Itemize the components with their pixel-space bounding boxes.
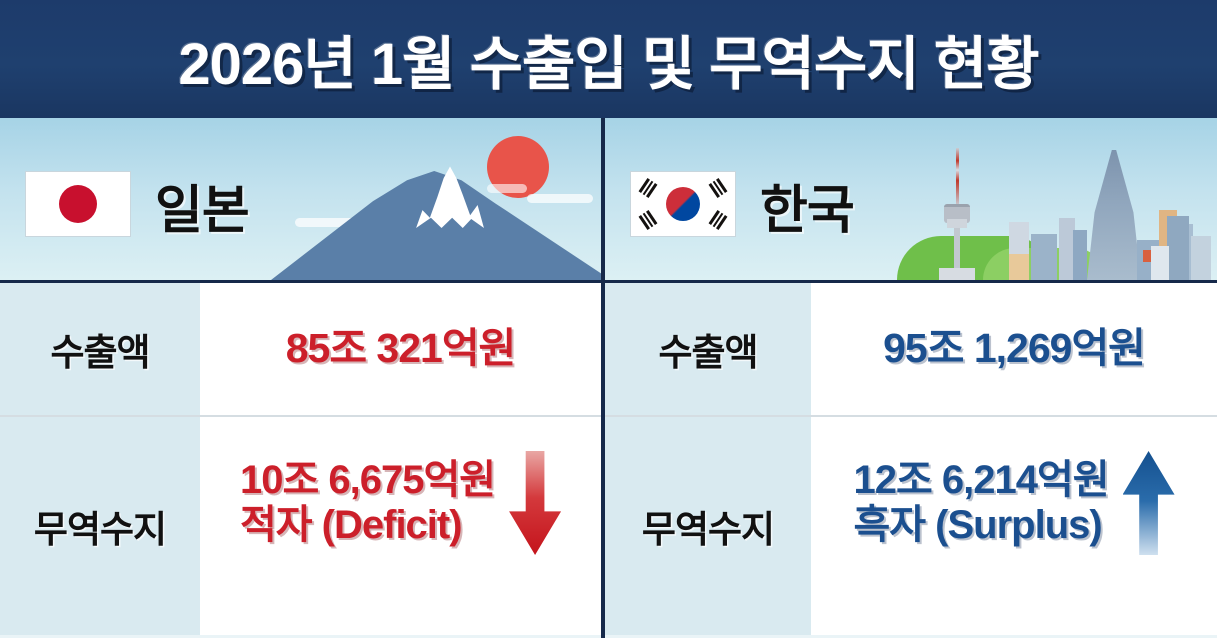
row-label: 수출액	[658, 322, 757, 376]
value-wrap: 10조 6,675억원 적자 (Deficit)	[240, 451, 561, 555]
tower-deck-lower	[947, 219, 967, 228]
export-value-japan: 85조 321억원	[286, 326, 516, 372]
trigram-gam-icon	[709, 178, 728, 198]
mount-fuji-icon	[281, 118, 601, 280]
row-value-cell: 12조 6,214억원 흑자 (Surplus)	[811, 417, 1217, 635]
row-label-cell: 수출액	[605, 283, 811, 415]
building-shape	[1073, 230, 1087, 280]
country-name-korea: 한국	[760, 168, 854, 243]
balance-status-korea: 흑자 (Surplus)	[853, 503, 1108, 548]
row-label-cell: 무역수지	[0, 417, 200, 635]
value-wrap: 95조 1,269억원	[883, 326, 1145, 372]
table-row: 무역수지 12조 6,214억원 흑자 (Surplus)	[605, 417, 1217, 635]
taeguk-symbol	[666, 187, 700, 221]
row-label: 수출액	[50, 322, 149, 376]
lotte-world-tower-icon	[1087, 150, 1141, 280]
row-label-cell: 무역수지	[605, 417, 811, 635]
cloud-icon	[487, 184, 527, 193]
export-value-korea: 95조 1,269억원	[883, 326, 1145, 372]
trigram-gon-icon	[709, 210, 728, 230]
tower-base	[939, 268, 975, 280]
trigram-ri-icon	[639, 210, 658, 230]
building-shape	[1191, 236, 1211, 280]
arrow-up-icon	[1123, 451, 1175, 555]
country-name-japan: 일본	[155, 168, 249, 243]
infographic-root: 2026년 1월 수출입 및 무역수지 현황 일본	[0, 0, 1217, 638]
row-value-cell: 85조 321억원	[200, 283, 601, 415]
country-header-korea: 한국	[605, 118, 1217, 283]
value-lines: 95조 1,269억원	[883, 326, 1145, 372]
value-lines: 85조 321억원	[286, 326, 516, 372]
page-title: 2026년 1월 수출입 및 무역수지 현황	[178, 17, 1038, 101]
value-wrap: 12조 6,214억원 흑자 (Surplus)	[853, 451, 1174, 555]
arrow-down-icon	[509, 451, 561, 555]
row-value-cell: 95조 1,269억원	[811, 283, 1217, 415]
trigram-geon-icon	[639, 178, 658, 198]
n-seoul-tower-icon	[953, 148, 961, 280]
balance-status-japan: 적자 (Deficit)	[240, 503, 495, 548]
cloud-icon	[527, 194, 593, 203]
value-wrap: 85조 321억원	[286, 326, 516, 372]
comparison-board: 일본 수출액	[0, 118, 1217, 638]
row-value-cell: 10조 6,675억원 적자 (Deficit)	[200, 417, 601, 635]
balance-amount-japan: 10조 6,675억원	[240, 458, 495, 503]
panel-korea: 한국	[605, 118, 1217, 638]
table-row: 무역수지 10조 6,675억원 적자 (Deficit)	[0, 417, 601, 635]
table-row: 수출액 95조 1,269억원	[605, 283, 1217, 417]
tower-spire	[956, 148, 959, 206]
building-shape	[1151, 246, 1169, 280]
table-row: 수출액 85조 321억원	[0, 283, 601, 417]
building-shape	[1009, 254, 1029, 280]
south-korea-flag-icon	[630, 171, 736, 237]
value-lines: 12조 6,214억원 흑자 (Surplus)	[853, 458, 1108, 548]
building-shape	[1031, 234, 1057, 280]
title-bar: 2026년 1월 수출입 및 무역수지 현황	[0, 0, 1217, 118]
panel-japan: 일본 수출액	[0, 118, 601, 638]
seoul-skyline-icon	[897, 118, 1217, 280]
balance-amount-korea: 12조 6,214억원	[853, 458, 1108, 503]
value-lines: 10조 6,675억원 적자 (Deficit)	[240, 458, 495, 548]
japan-flag-icon	[25, 171, 131, 237]
row-label-cell: 수출액	[0, 283, 200, 415]
country-header-japan: 일본	[0, 118, 601, 283]
building-shape	[1167, 216, 1189, 280]
row-label: 무역수지	[642, 499, 774, 553]
row-label: 무역수지	[34, 499, 166, 553]
